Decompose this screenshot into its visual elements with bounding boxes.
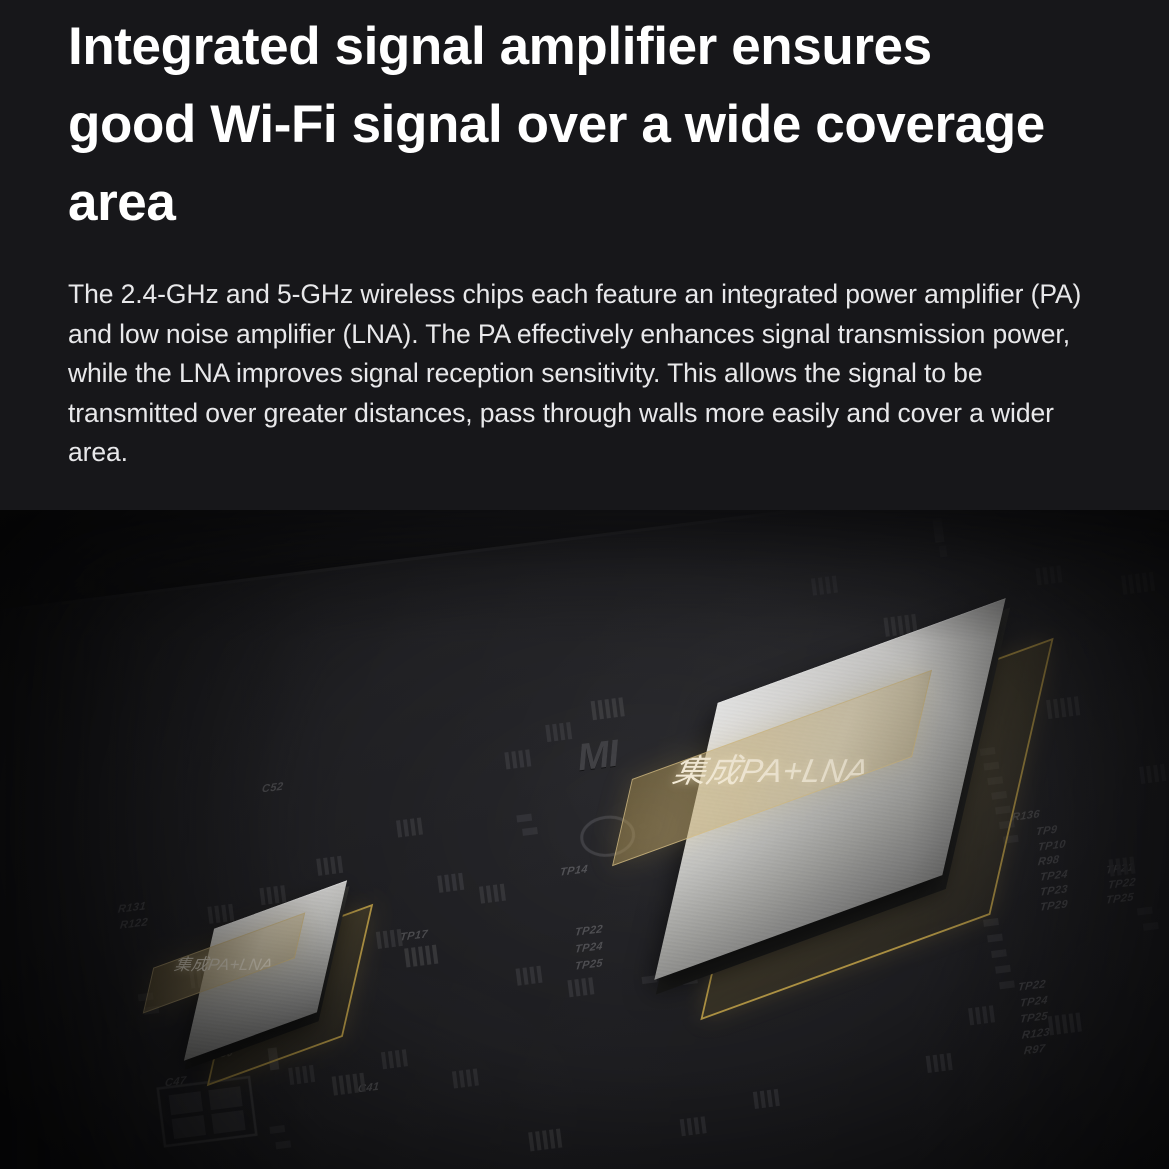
mi-logo: MI — [576, 732, 620, 780]
chip-24ghz: 集成PA+LNA — [160, 890, 400, 1110]
feature-text-block: Integrated signal amplifier ensures good… — [68, 0, 1078, 473]
product-feature-page: Integrated signal amplifier ensures good… — [0, 0, 1169, 1169]
pcb-photo: MI TP14TP22TP24TP25R136TP9TP10R98TP24TP2… — [0, 510, 1169, 1169]
chip-5ghz: 集成PA+LNA — [636, 638, 1056, 998]
feature-description: The 2.4-GHz and 5-GHz wireless chips eac… — [68, 242, 1098, 473]
page-title: Integrated signal amplifier ensures good… — [68, 0, 1068, 242]
